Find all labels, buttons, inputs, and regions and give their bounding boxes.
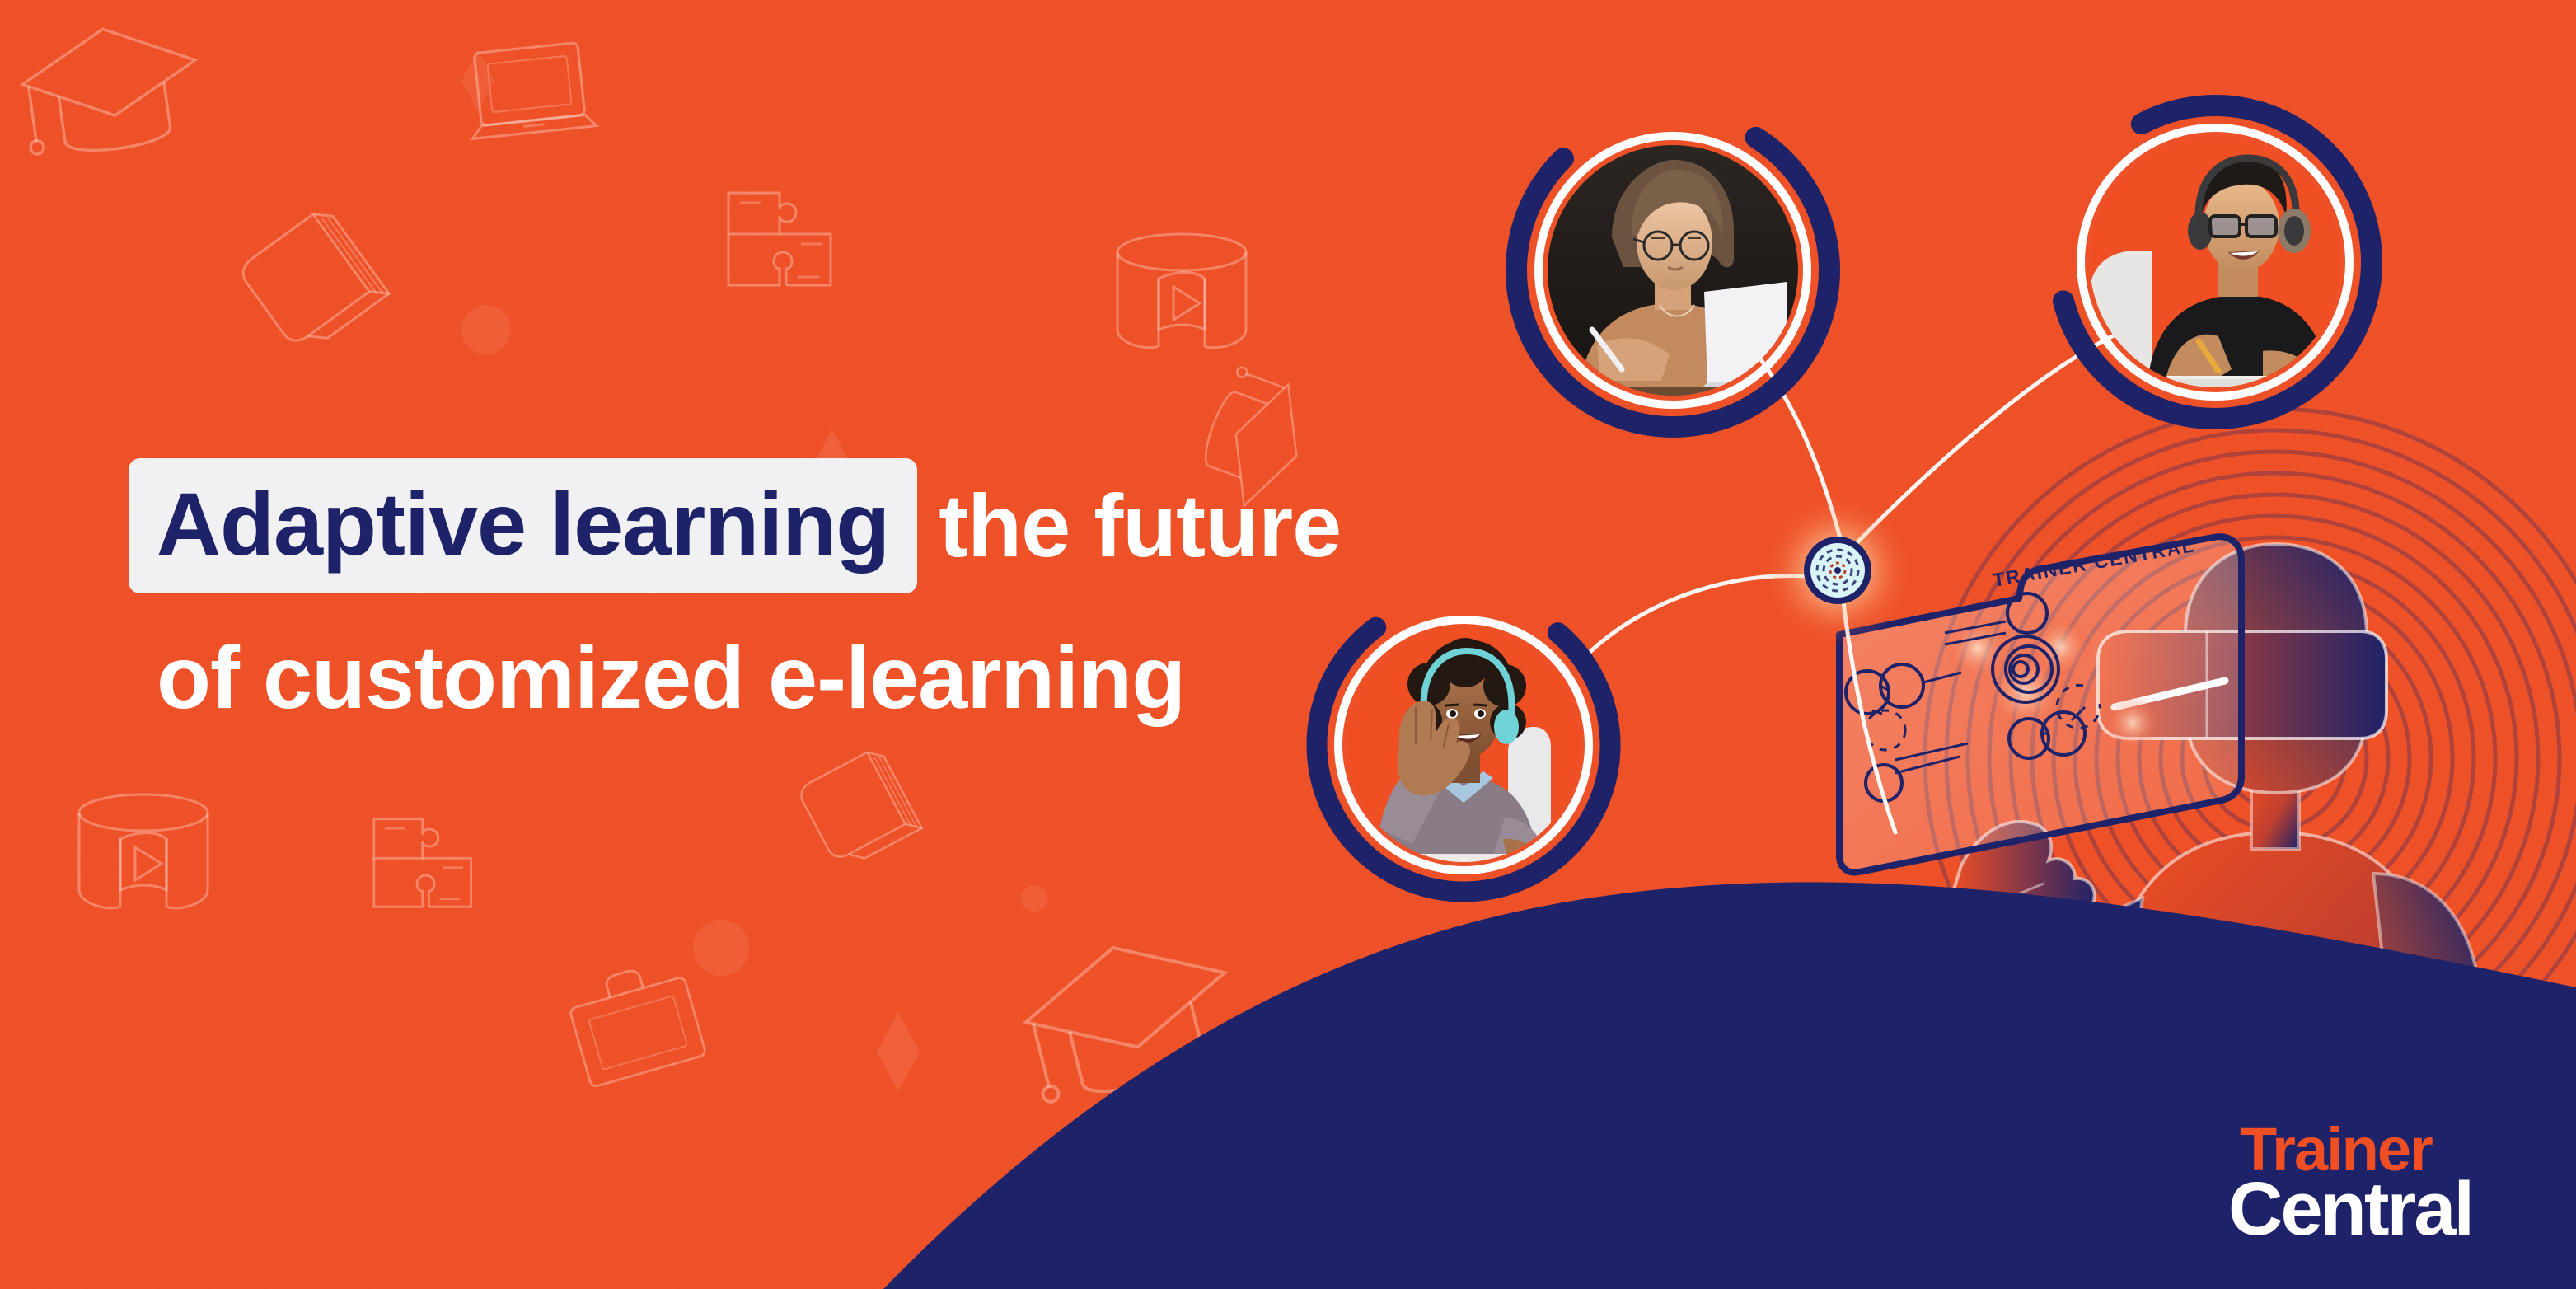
photo-circle-man-headphones [2042, 89, 2388, 435]
photo-circle-woman-laptop [1500, 97, 1846, 443]
headline-line-1: Adaptive learning the future [147, 458, 1432, 593]
woman-laptop-photo [1500, 97, 1846, 443]
headline-highlight-chip: Adaptive learning [129, 458, 917, 593]
headline-block: Adaptive learning the future of customiz… [147, 458, 1432, 722]
logo-word-central: Central [2228, 1176, 2472, 1243]
trainer-central-logo[interactable]: Trainer Central [2228, 1123, 2472, 1243]
marketing-banner: TRAINER CENTRAL [0, 0, 2576, 1289]
man-headphones-photo [2042, 89, 2388, 435]
headline-line1-rest: the future [939, 458, 1341, 570]
headline-line-2: of customized e-learning [147, 633, 1432, 722]
headline-highlight-text: Adaptive learning [157, 480, 889, 569]
